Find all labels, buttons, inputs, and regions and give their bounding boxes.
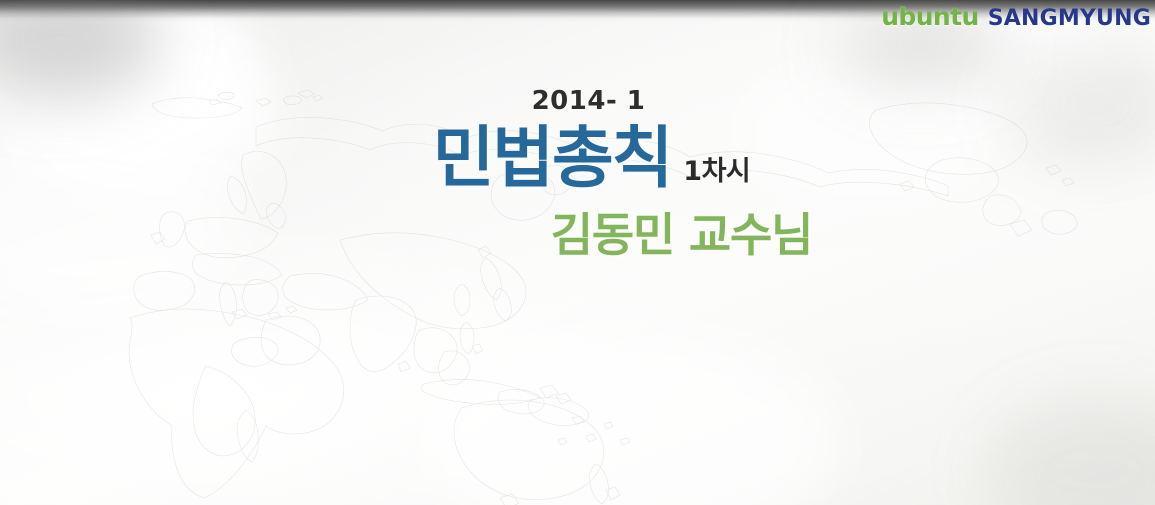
sangmyung-university-logo: SANGMYUNG	[988, 8, 1151, 30]
world-map-background	[0, 0, 1155, 505]
watermark-logos: ubuntu SANGMYUNG	[881, 4, 1151, 30]
lecture-title-card: ubuntu SANGMYUNG 2014- 1 민법총칙 1차시 김동민 교수…	[0, 0, 1155, 505]
ubuntu-logo: ubuntu	[881, 4, 978, 29]
